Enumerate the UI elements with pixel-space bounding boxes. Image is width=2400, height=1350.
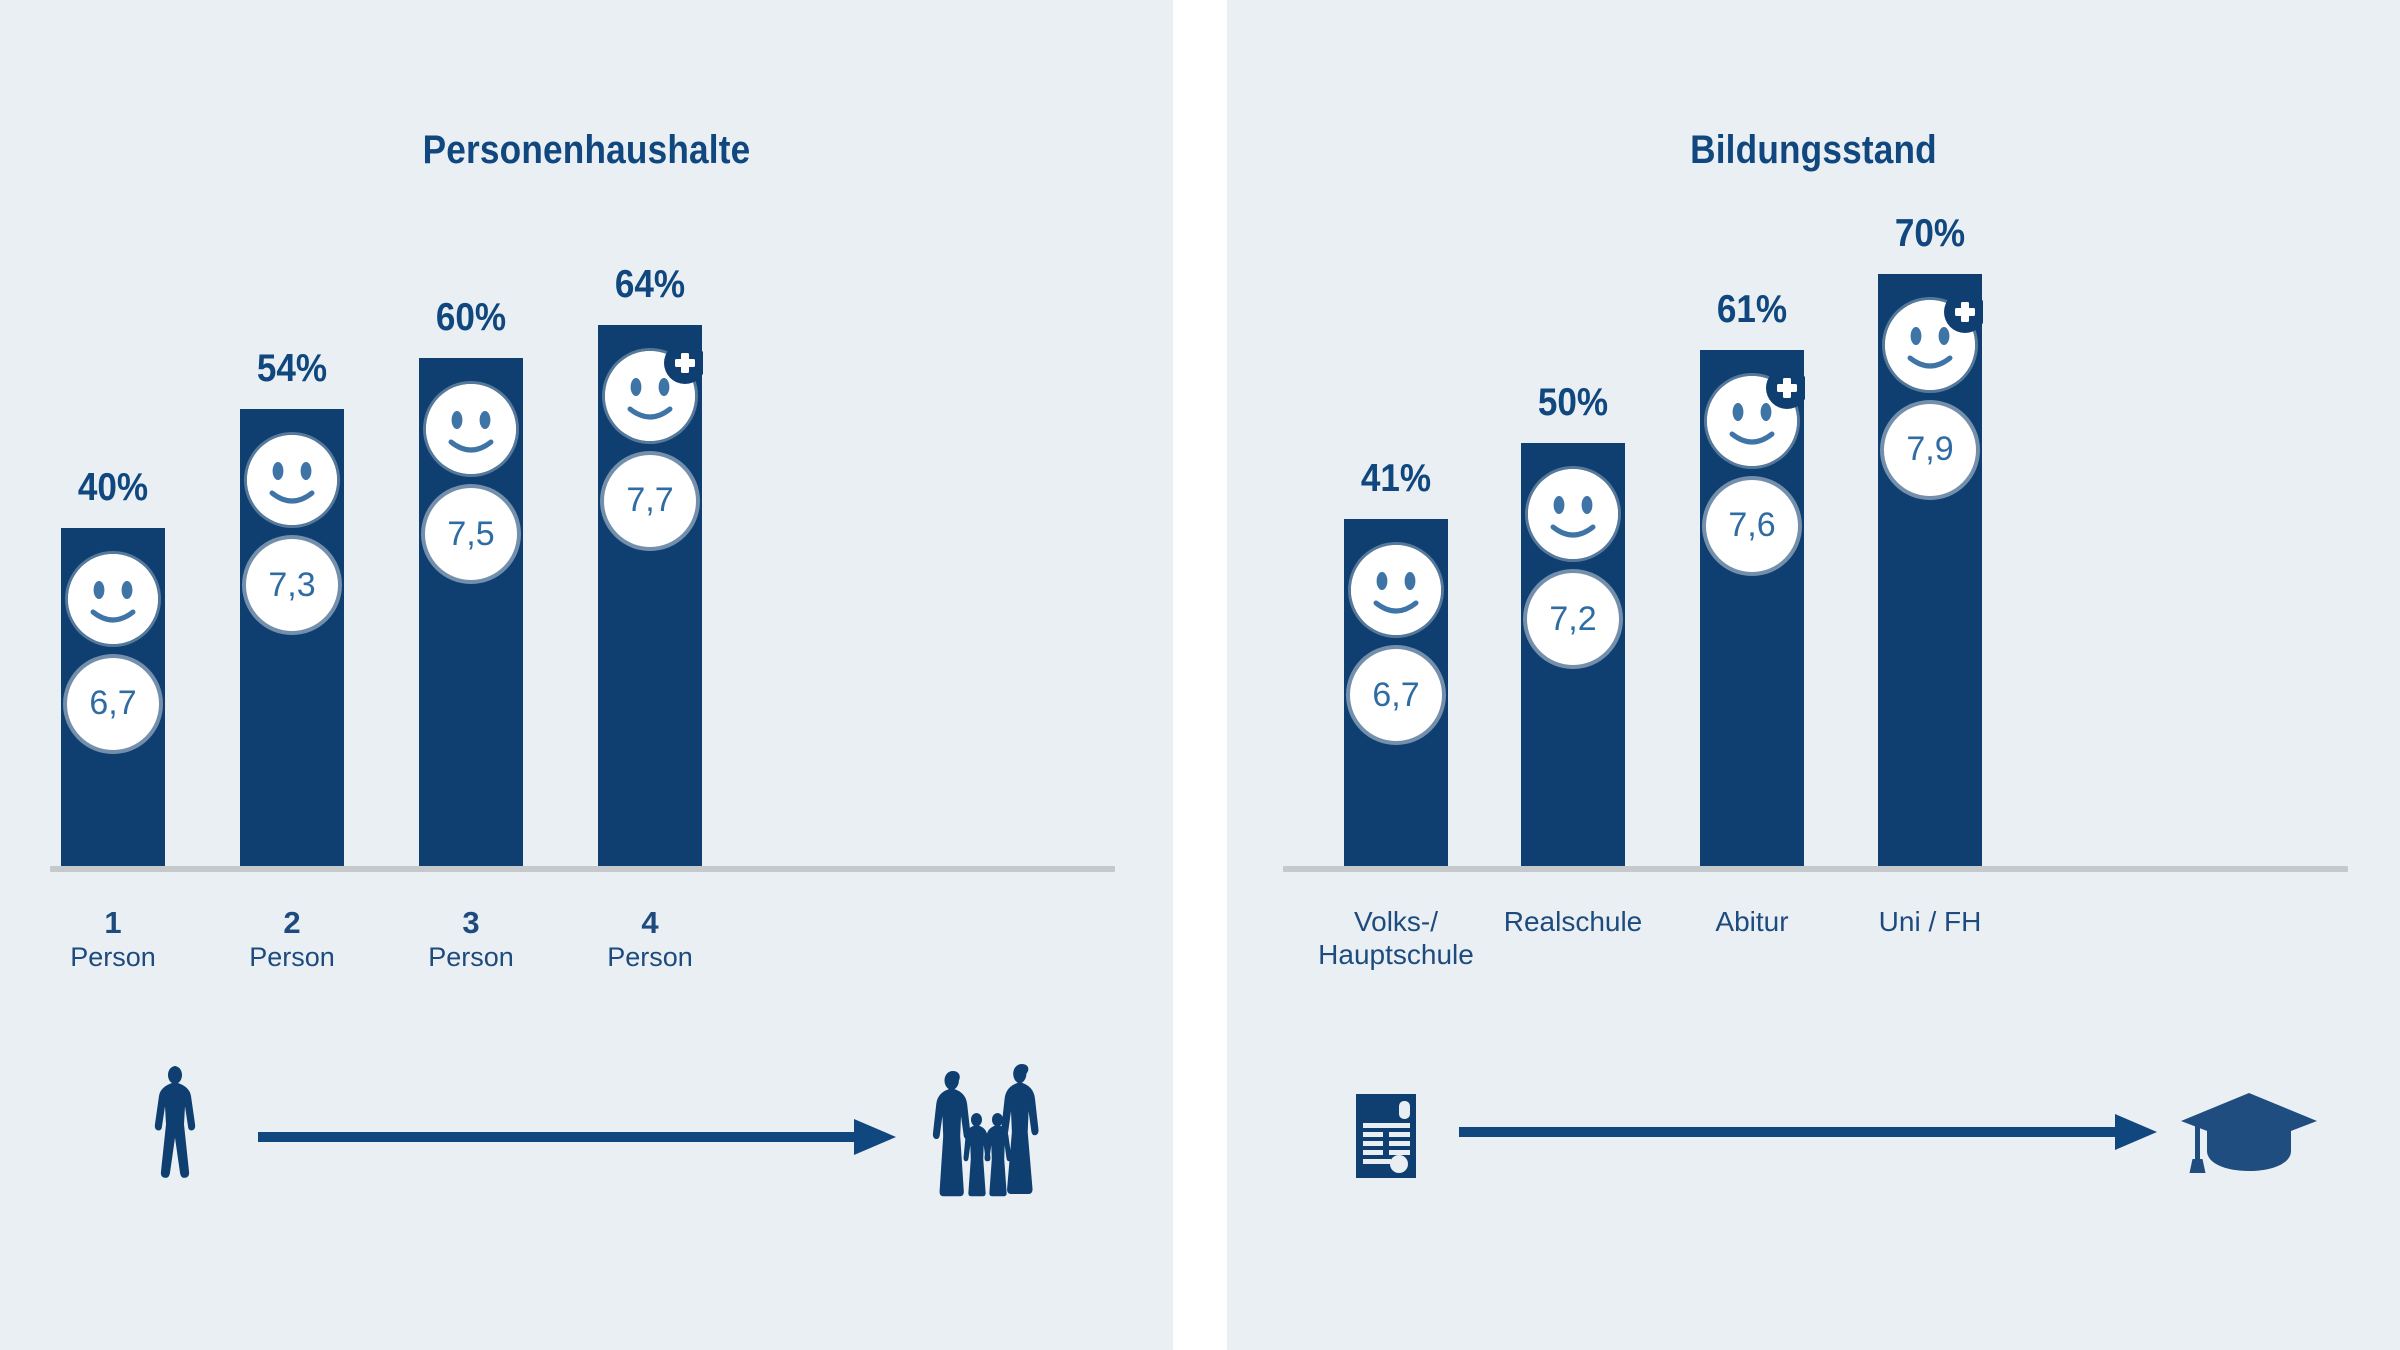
bar-value-label: 60% (372, 296, 570, 340)
category-label: Uni / FH (1790, 905, 2070, 938)
smiley-icon (1343, 537, 1449, 648)
category-label: 4Person (510, 905, 790, 973)
score-badge: 6,7 (1350, 649, 1442, 741)
smiley-plus-icon (1699, 368, 1805, 479)
category-line: Hauptschule (1256, 938, 1536, 971)
score-badge: 7,6 (1706, 480, 1798, 572)
axis-baseline-right (1283, 866, 2348, 872)
person-icon (140, 1063, 212, 1198)
footer-row-right (1227, 1060, 2400, 1220)
smiley-plus-icon (1877, 292, 1983, 403)
category-line: Uni / FH (1790, 905, 2070, 938)
smiley-plus-icon (597, 343, 703, 454)
category-unit: Person (510, 942, 790, 974)
score-badge: 7,2 (1527, 573, 1619, 665)
smiley-icon (1520, 461, 1626, 572)
score-badge: 7,3 (246, 539, 338, 631)
arrow-right-icon (1459, 1108, 2159, 1161)
panel-title-bildungsstand: Bildungsstand (1297, 128, 2329, 173)
score-badge: 6,7 (67, 658, 159, 750)
infographic-canvas: Personenhaushalte Bildungsstand 40% 6,71… (0, 0, 2400, 1350)
score-badge: 7,7 (604, 455, 696, 547)
smiley-icon (239, 427, 345, 538)
certificate-icon (1355, 1093, 1417, 1184)
bar-value-label: 54% (193, 347, 391, 391)
arrow-right-icon (258, 1113, 898, 1166)
axis-baseline-left (50, 866, 1115, 872)
family-icon (928, 1061, 1046, 1206)
score-badge: 7,9 (1884, 404, 1976, 496)
panel-title-personenhaushalte: Personenhaushalte (70, 128, 1102, 173)
smiley-icon (418, 376, 524, 487)
bar-value-label: 70% (1831, 212, 2029, 256)
bar-value-label: 41% (1297, 457, 1495, 501)
bar-value-label: 61% (1653, 288, 1851, 332)
score-badge: 7,5 (425, 488, 517, 580)
footer-row-left (0, 1060, 1173, 1220)
bar-value-label: 64% (551, 263, 749, 307)
graduation-cap-icon (2179, 1091, 2319, 1180)
category-number: 4 (510, 905, 790, 942)
bar-value-label: 40% (14, 466, 212, 510)
bar-value-label: 50% (1474, 381, 1672, 425)
smiley-icon (60, 546, 166, 657)
